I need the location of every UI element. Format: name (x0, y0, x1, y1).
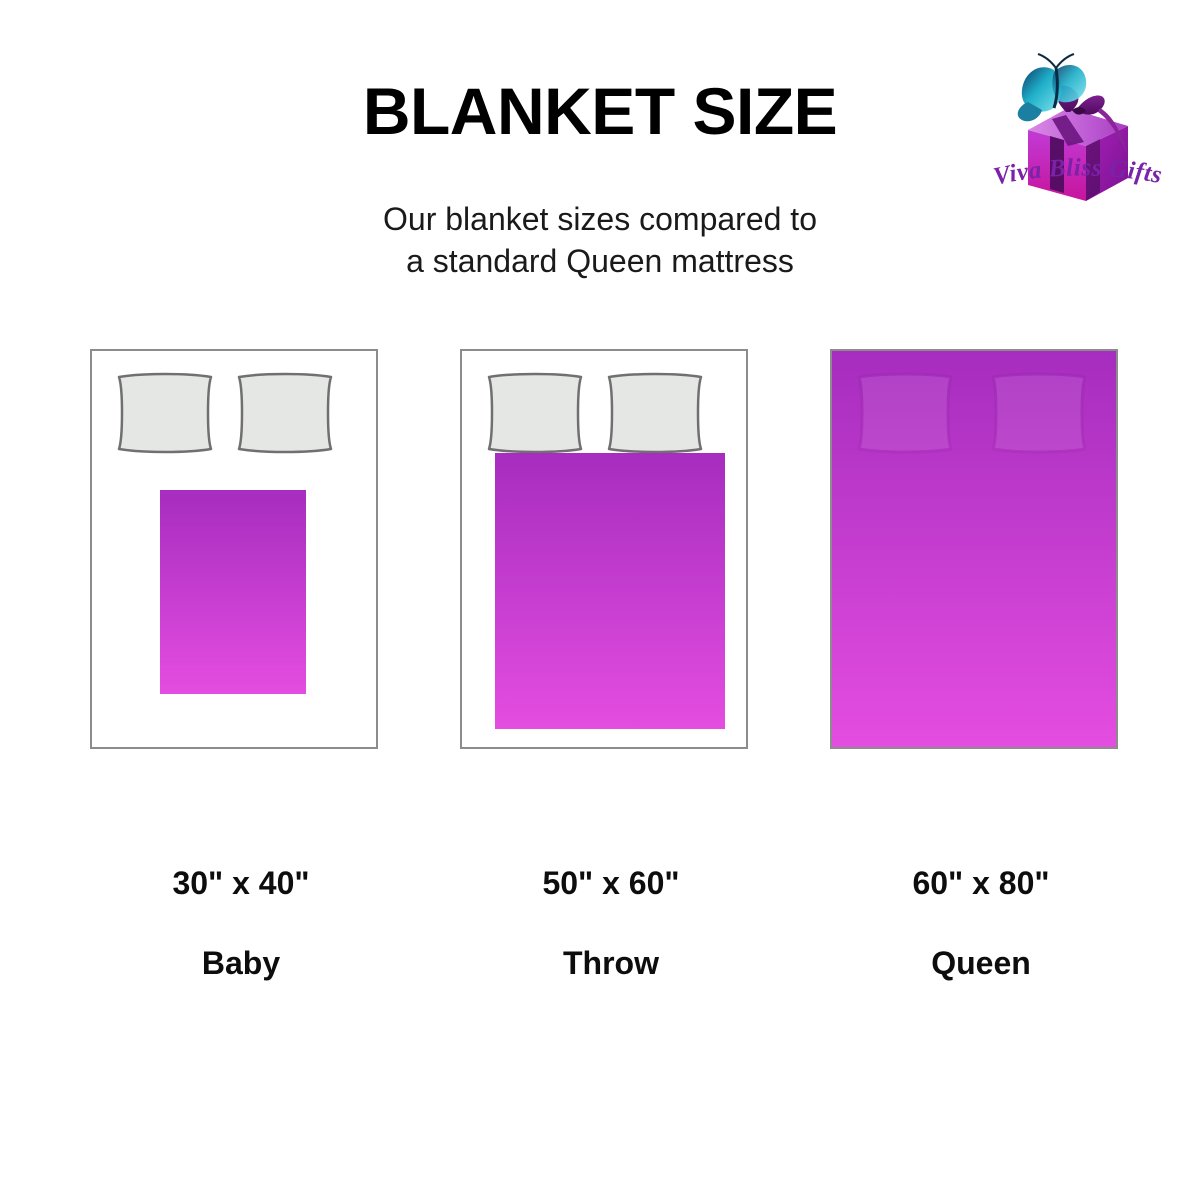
bed-dims-label: 60" x 80" (816, 865, 1146, 902)
bed-comparison-group: 30" x 40" Baby 50" x 60" Throw 60" x 80"… (0, 0, 1200, 1200)
pillow-left (483, 371, 587, 455)
pillow-right (233, 371, 337, 455)
bed-diagram-baby (90, 349, 378, 749)
pillow-left (859, 374, 951, 452)
bed-diagram-queen (830, 349, 1118, 749)
pillow-right (993, 374, 1085, 452)
pillow-left (113, 371, 217, 455)
pillows-under-blanket (832, 351, 1116, 747)
bed-dims-label: 50" x 60" (446, 865, 776, 902)
bed-dims-label: 30" x 40" (76, 865, 406, 902)
blanket-baby (160, 490, 306, 694)
bed-name-label: Baby (76, 945, 406, 982)
pillow-right (603, 371, 707, 455)
bed-name-label: Queen (816, 945, 1146, 982)
blanket-throw (495, 453, 725, 729)
bed-name-label: Throw (446, 945, 776, 982)
blanket-size-infographic: { "header": { "title": "BLANKET SIZE", "… (0, 0, 1200, 1200)
bed-diagram-throw (460, 349, 748, 749)
